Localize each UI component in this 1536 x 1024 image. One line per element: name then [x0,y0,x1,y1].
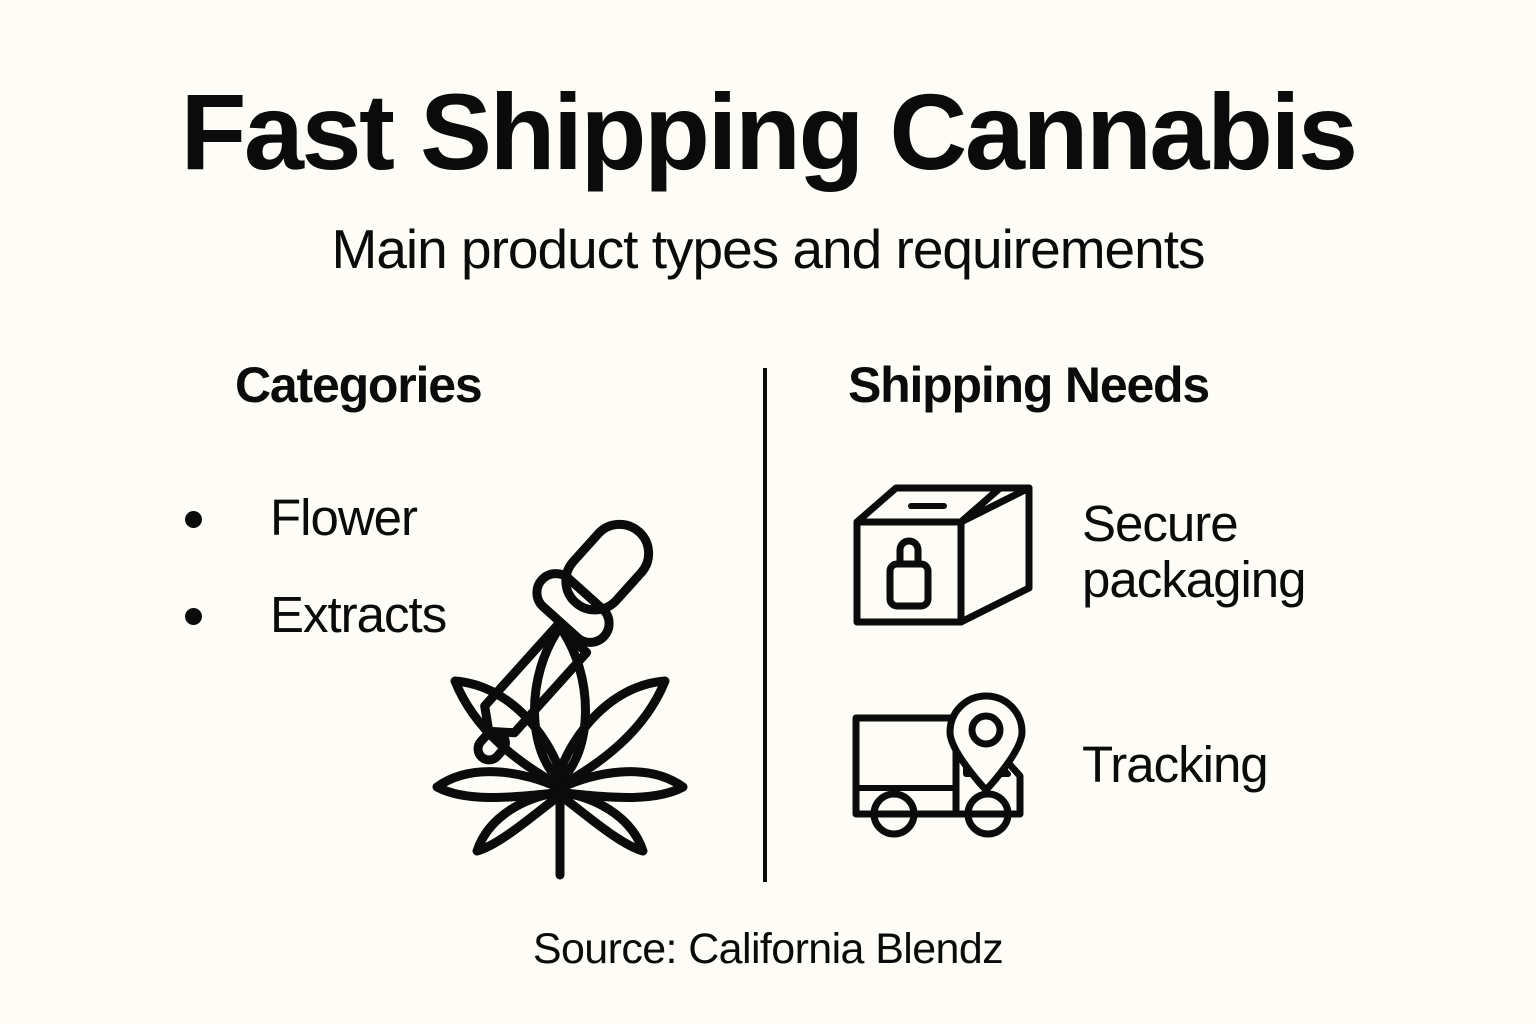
cannabis-leaf-dropper-icon [415,505,705,885]
delivery-truck-location-pin-svg [848,690,1038,840]
location-pin-dot [972,716,1000,744]
category-label: Flower [270,489,417,546]
shipping-needs-heading: Shipping Needs [800,360,1420,410]
need-label-line-2: packaging [1082,552,1306,608]
infographic-canvas: Fast Shipping Cannabis Main product type… [0,0,1536,1024]
dropper-bulb [554,512,661,621]
need-label-line-1: Secure [1082,495,1238,552]
list-item: Flower [185,492,446,543]
source-attribution: Source: California Blendz [0,925,1536,974]
list-item: Extracts [185,589,446,640]
page-title: Fast Shipping Cannabis [0,78,1536,186]
categories-list: Flower Extracts [185,492,446,686]
need-label: Secure packaging [1038,496,1306,608]
categories-column: Categories Flower Extracts [150,360,750,410]
content-columns: Categories Flower Extracts [0,360,1536,900]
padlock-body [890,564,928,606]
box-side-face [961,488,1029,622]
header-block: Fast Shipping Cannabis Main product type… [0,78,1536,277]
need-label: Tracking [1038,737,1268,793]
locked-package-box-svg [848,472,1038,632]
categories-heading: Categories [150,360,750,410]
need-row: Secure packaging [848,472,1306,632]
need-label-line-1: Tracking [1082,736,1268,793]
bullet-dot-icon [185,608,202,625]
shipping-needs-column: Shipping Needs [800,360,1420,410]
column-divider [763,368,767,882]
bullet-dot-icon [185,511,202,528]
cannabis-leaf-dropper-svg [415,505,705,885]
need-row: Tracking [848,690,1268,840]
locked-package-box-icon [848,472,1038,632]
page-subtitle: Main product types and requirements [0,186,1536,277]
delivery-truck-location-pin-icon [848,690,1038,840]
